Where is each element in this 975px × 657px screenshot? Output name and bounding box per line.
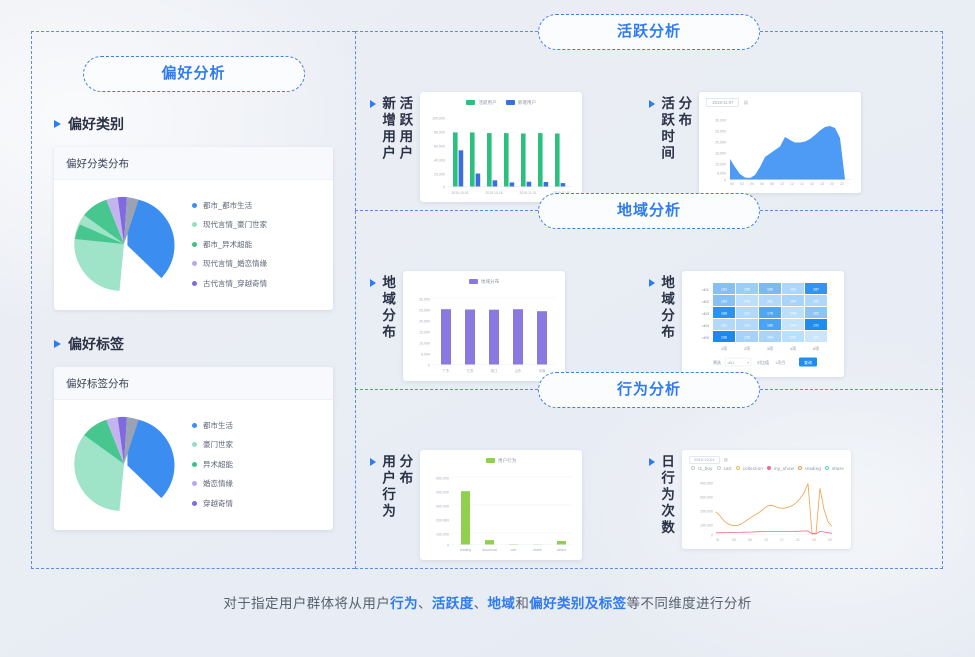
legend-item: 活跃用户 [466, 100, 496, 106]
diagram-frame: 偏好分析 偏好类别 偏好分类分布 [31, 31, 943, 569]
legend-dot-icon [192, 423, 197, 428]
unit-region-bar: 地域分布 地域分布 30,000 [370, 271, 649, 381]
svg-text:5,000: 5,000 [421, 353, 430, 357]
caption-text: 、 [418, 596, 432, 611]
legend-dot-icon [717, 466, 721, 470]
svg-text:5,000: 5,000 [717, 172, 726, 176]
legend-dot-icon [767, 466, 771, 470]
svg-text:查询: 查询 [804, 359, 812, 365]
svg-text:200,000: 200,000 [700, 510, 713, 514]
unit-region-heatmap: 地域分布 d01 d02 d03 d04 d05 [649, 271, 928, 377]
svg-text:05: 05 [732, 538, 736, 542]
svg-text:0: 0 [428, 364, 430, 368]
svg-text:3项: 3项 [767, 345, 773, 351]
triangle-bullet-icon [54, 120, 61, 128]
legend-dot-icon [192, 281, 197, 286]
legend-label: 都市_都市生活 [203, 200, 252, 211]
heatmap-region: d01 d02 d03 d04 d05 163 158 166 156 [689, 279, 837, 371]
bar-chart-new-active-users: 100,000 80,000 60,000 40,000 20,000 0 [427, 109, 575, 197]
card-preference-tag-distribution: 偏好标签分布 [54, 367, 333, 530]
legend-label: 穿越奇情 [203, 498, 233, 509]
svg-text:对比值: 对比值 [757, 359, 769, 365]
svg-text:151: 151 [767, 300, 773, 304]
svg-text:山东: 山东 [515, 368, 522, 373]
date-filter-input[interactable]: 2019-11-07 [706, 98, 739, 107]
vertical-label: 活跃用户 [397, 96, 411, 162]
svg-text:155: 155 [744, 336, 750, 340]
svg-text:1项目: 1项目 [775, 359, 785, 365]
legend-label: 异术超能 [203, 459, 233, 470]
card-preference-category-distribution: 偏好分类分布 [54, 147, 333, 310]
svg-text:download: download [483, 548, 498, 552]
caption: 对于指定用户群体将从用户行为、活跃度、地域和偏好类别及标签等不同维度进行分析 [0, 592, 975, 612]
panel-preference-analysis: 偏好分析 偏好类别 偏好分类分布 [31, 31, 355, 569]
svg-text:30,000: 30,000 [715, 119, 726, 123]
svg-text:20: 20 [830, 182, 834, 186]
svg-text:5项: 5项 [813, 345, 819, 351]
unit-daily-behavior: 日行为次数 2019-12-01 ▦ t1_buy [649, 450, 928, 549]
legend-preference-category: 都市_都市生活 现代言情_豪门世家 都市_异术超能 现代言情_婚恋情缘 [192, 200, 267, 289]
svg-text:187: 187 [813, 288, 819, 292]
legend-swatch-icon [466, 100, 475, 105]
svg-text:09: 09 [748, 538, 752, 542]
legend-item: 豪门世家 [192, 439, 233, 450]
legend-label: 现代言情_豪门世家 [203, 219, 267, 230]
legend-item: 现代言情_婚恋情缘 [192, 258, 267, 269]
badge-activity-analysis: 活跃分析 [538, 14, 760, 50]
svg-text:12: 12 [790, 182, 794, 186]
legend-label: 新增用户 [518, 100, 536, 106]
vertical-label: 地域分布 [380, 275, 394, 341]
legend-label: share [832, 466, 844, 471]
legend-label: my_show [774, 466, 794, 471]
svg-text:29: 29 [828, 538, 832, 542]
legend-swatch-icon [469, 279, 478, 284]
svg-text:2019-10-16: 2019-10-16 [486, 191, 503, 195]
svg-text:100,000: 100,000 [700, 524, 713, 528]
badge-behavior-analysis: 行为分析 [538, 372, 760, 408]
svg-text:151: 151 [721, 324, 727, 328]
svg-text:13: 13 [764, 538, 768, 542]
legend-dot-icon [192, 462, 197, 467]
bar-chart-user-behavior: 500,000 400,000 300,000 200,000 100,000 … [427, 467, 575, 555]
svg-text:d01: d01 [728, 360, 735, 365]
svg-text:06: 06 [760, 182, 764, 186]
vertical-label: 日行为次数 [659, 454, 673, 537]
svg-text:178: 178 [767, 312, 773, 316]
line-chart-daily-behavior: 400,000 300,000 200,000 100,000 0 010509 [689, 472, 837, 544]
vertical-label: 分布 [676, 96, 690, 162]
svg-text:2项: 2项 [744, 345, 750, 351]
svg-text:500,000: 500,000 [436, 477, 449, 481]
chart-card-region-heatmap: d01 d02 d03 d04 d05 163 158 166 156 [682, 271, 844, 377]
chart-legend: 用户行为 [427, 456, 575, 465]
unit-active-time-distribution: 活跃时间 分布 2019-11-07 ▦ 30,000 25,000 [649, 92, 928, 193]
legend-item[interactable]: reading [798, 466, 821, 471]
legend-item: 新增用户 [506, 100, 536, 106]
panel-activity-analysis: 活跃分析 新增用户 活跃用户 活跃用户 [355, 31, 943, 211]
legend-item: 穿越奇情 [192, 498, 233, 509]
legend-label: 古代言情_穿越奇情 [203, 278, 267, 289]
chart-card-user-behavior: 用户行为 500,000 400,000 300,000 200,000 100… [420, 450, 582, 560]
chart-card-region-bar: 地域分布 30,000 25,000 20,000 15,000 10,000 … [403, 271, 565, 381]
calendar-icon[interactable]: ▦ [724, 457, 728, 463]
chart-card-daily-behavior: 2019-12-01 ▦ t1_buy cart [682, 450, 851, 549]
svg-text:1项: 1项 [721, 345, 727, 351]
triangle-bullet-icon [370, 279, 376, 287]
svg-text:151: 151 [744, 324, 750, 328]
triangle-bullet-icon [649, 458, 655, 466]
caption-highlight: 行为 [390, 596, 418, 611]
triangle-bullet-icon [370, 458, 376, 466]
legend-label: 婚恋情缘 [203, 478, 233, 489]
legend-dot-icon [192, 242, 197, 247]
svg-text:25,000: 25,000 [715, 130, 726, 134]
legend-item: 都市生活 [192, 420, 233, 431]
svg-text:d03: d03 [702, 311, 709, 316]
svg-text:08: 08 [770, 182, 774, 186]
triangle-bullet-icon [649, 279, 655, 287]
svg-text:河南: 河南 [539, 368, 546, 373]
svg-text:0: 0 [724, 179, 726, 183]
svg-text:30,000: 30,000 [419, 298, 430, 302]
card-title: 偏好分类分布 [54, 147, 333, 180]
svg-text:60,000: 60,000 [434, 145, 445, 149]
svg-text:0: 0 [447, 544, 449, 548]
vertical-label: 新增用户 [380, 96, 394, 162]
svg-text:2019-10-01: 2019-10-01 [452, 191, 469, 195]
svg-text:25,000: 25,000 [419, 309, 430, 313]
legend-dot-icon [691, 466, 695, 470]
svg-text:02: 02 [740, 182, 744, 186]
caption-text: 等不同维度进行分析 [627, 596, 752, 611]
legend-label: 都市生活 [203, 420, 233, 431]
svg-text:2019-11-01: 2019-11-01 [520, 191, 537, 195]
svg-text:10,000: 10,000 [715, 163, 726, 167]
vertical-label: 用户行为 [380, 454, 394, 520]
svg-text:300,000: 300,000 [700, 496, 713, 500]
legend-dot-icon [192, 222, 197, 227]
svg-text:158: 158 [744, 288, 750, 292]
legend-item: 都市_异术超能 [192, 239, 267, 250]
svg-text:others: others [557, 548, 567, 552]
svg-text:166: 166 [767, 288, 773, 292]
pie-chart-preference-tag [70, 410, 178, 518]
legend-dot-icon [825, 466, 829, 470]
svg-text:04: 04 [750, 182, 754, 186]
legend-preference-tag: 都市生活 豪门世家 异术超能 婚恋情缘 [192, 420, 233, 509]
svg-text:400,000: 400,000 [700, 482, 713, 486]
svg-text:reading: reading [460, 548, 471, 552]
svg-text:188: 188 [721, 312, 727, 316]
svg-text:100,000: 100,000 [436, 533, 449, 537]
triangle-bullet-icon [54, 340, 61, 348]
caption-highlight: 地域 [488, 596, 516, 611]
legend-item[interactable]: t1_buy [691, 466, 712, 471]
svg-text:300,000: 300,000 [436, 505, 449, 509]
svg-text:▾: ▾ [747, 360, 749, 365]
vertical-label: 地域分布 [659, 275, 673, 341]
svg-text:100,000: 100,000 [432, 117, 445, 121]
legend-label: reading [805, 466, 821, 471]
svg-text:148: 148 [790, 312, 796, 316]
unit-user-behavior: 用户行为 分布 用户行为 500,0 [370, 450, 649, 560]
svg-text:浙江: 浙江 [491, 368, 498, 373]
svg-text:00: 00 [730, 182, 734, 186]
svg-text:148: 148 [744, 300, 750, 304]
legend-item[interactable]: collection [736, 466, 763, 471]
legend-item: 古代言情_穿越奇情 [192, 278, 267, 289]
legend-label: t1_buy [698, 466, 712, 471]
legend-item: 地域分布 [469, 279, 499, 285]
legend-swatch-icon [486, 458, 495, 463]
legend-dot-icon [192, 481, 197, 486]
area-chart-active-time: 30,000 25,000 20,000 15,000 10,000 5,000… [706, 108, 854, 188]
section-heading-preference-category: 偏好类别 [54, 114, 333, 134]
svg-text:191: 191 [813, 324, 819, 328]
svg-text:200,000: 200,000 [436, 519, 449, 523]
caption-highlight: 偏好类别及标签 [529, 596, 626, 611]
legend-item: 用户行为 [486, 458, 516, 464]
badge-preference-analysis: 偏好分析 [83, 56, 305, 92]
svg-text:164: 164 [721, 300, 727, 304]
legend-label: 活跃用户 [478, 100, 496, 106]
svg-text:14: 14 [800, 182, 804, 186]
section-heading-preference-tag: 偏好标签 [54, 334, 333, 354]
svg-text:cart: cart [511, 548, 517, 552]
section-heading-label: 偏好类别 [68, 114, 124, 134]
legend-dot-icon [192, 501, 197, 506]
svg-text:10: 10 [780, 182, 784, 186]
legend-label: 现代言情_婚恋情缘 [203, 258, 267, 269]
svg-text:10,000: 10,000 [419, 342, 430, 346]
caption-text: 、 [474, 596, 488, 611]
svg-text:196: 196 [721, 336, 727, 340]
legend-dot-icon [192, 442, 197, 447]
chart-card-new-active-users: 活跃用户 新增用户 100,000 80,000 60,000 [420, 92, 582, 202]
bar-chart-region: 30,000 25,000 20,000 15,000 10,000 5,000… [410, 288, 558, 376]
svg-text:筛选: 筛选 [713, 359, 721, 365]
legend-label: collection [743, 466, 763, 471]
svg-text:152: 152 [813, 300, 819, 304]
legend-dot-icon [736, 466, 740, 470]
legend-swatch-icon [506, 100, 515, 105]
svg-text:17: 17 [780, 538, 784, 542]
legend-label: 都市_异术超能 [203, 239, 252, 250]
svg-text:20,000: 20,000 [715, 141, 726, 145]
legend-dot-icon [798, 466, 802, 470]
svg-text:01: 01 [716, 538, 720, 542]
svg-text:d05: d05 [702, 335, 709, 340]
svg-text:25: 25 [812, 538, 816, 542]
svg-text:16: 16 [810, 182, 814, 186]
svg-text:180: 180 [767, 324, 773, 328]
caption-text: 对于指定用户群体将从用户 [223, 596, 390, 611]
legend-label: 豪门世家 [203, 439, 233, 450]
legend-label: 地域分布 [481, 279, 499, 285]
chart-card-active-time: 2019-11-07 ▦ 30,000 25,000 20,000 15,000… [699, 92, 861, 193]
svg-text:15,000: 15,000 [715, 152, 726, 156]
svg-text:0: 0 [443, 186, 445, 190]
legend-label: cart [724, 466, 732, 471]
pie-chart-preference-category [70, 190, 178, 298]
legend-label: 用户行为 [498, 458, 516, 464]
panel-behavior-analysis: 行为分析 用户行为 分布 用户行为 [355, 390, 943, 569]
svg-text:15,000: 15,000 [419, 331, 430, 335]
legend-item[interactable]: cart [717, 466, 732, 471]
svg-text:share: share [534, 548, 543, 552]
legend-item[interactable]: my_show [767, 466, 794, 471]
svg-text:154: 154 [790, 300, 796, 304]
date-filter-input[interactable]: 2019-12-01 [689, 456, 719, 464]
svg-text:156: 156 [790, 288, 796, 292]
vertical-label: 分布 [397, 454, 411, 520]
caption-highlight: 活跃度 [432, 596, 474, 611]
caption-text: 和 [515, 596, 529, 611]
svg-text:d02: d02 [702, 299, 709, 304]
legend-dot-icon [192, 203, 197, 208]
svg-text:154: 154 [767, 336, 773, 340]
svg-text:144: 144 [790, 324, 796, 328]
legend-item: 异术超能 [192, 459, 233, 470]
card-title: 偏好标签分布 [54, 367, 333, 400]
chart-legend: 地域分布 [410, 277, 558, 286]
svg-text:40,000: 40,000 [434, 159, 445, 163]
svg-text:d04: d04 [702, 323, 709, 328]
svg-text:147: 147 [790, 336, 796, 340]
svg-text:18: 18 [820, 182, 824, 186]
badge-region-analysis: 地域分析 [538, 193, 760, 229]
legend-dot-icon [192, 261, 197, 266]
vertical-label: 活跃时间 [659, 96, 673, 162]
calendar-icon[interactable]: ▦ [743, 100, 748, 106]
svg-text:20,000: 20,000 [419, 320, 430, 324]
section-heading-label: 偏好标签 [68, 334, 124, 354]
triangle-bullet-icon [649, 100, 655, 108]
svg-text:21: 21 [796, 538, 800, 542]
svg-text:151: 151 [744, 312, 750, 316]
svg-text:江苏: 江苏 [467, 368, 474, 373]
svg-text:162: 162 [813, 312, 819, 316]
svg-text:d01: d01 [702, 287, 709, 292]
svg-text:广东: 广东 [443, 368, 450, 373]
legend-item[interactable]: share [825, 466, 844, 471]
svg-text:80,000: 80,000 [434, 131, 445, 135]
legend-item: 现代言情_豪门世家 [192, 219, 267, 230]
chart-legend: 活跃用户 新增用户 [427, 98, 575, 107]
svg-text:400,000: 400,000 [436, 491, 449, 495]
panel-region-analysis: 地域分析 地域分布 地域分布 [355, 211, 943, 390]
svg-text:163: 163 [721, 288, 727, 292]
svg-text:20,000: 20,000 [434, 173, 445, 177]
legend-item: 婚恋情缘 [192, 478, 233, 489]
svg-text:22: 22 [840, 182, 844, 186]
svg-text:4项: 4项 [790, 345, 796, 351]
unit-new-active-users: 新增用户 活跃用户 活跃用户 新增用户 [370, 92, 649, 202]
legend-item: 都市_都市生活 [192, 200, 267, 211]
svg-text:141: 141 [813, 336, 819, 340]
svg-text:0: 0 [711, 534, 713, 538]
triangle-bullet-icon [370, 100, 376, 108]
